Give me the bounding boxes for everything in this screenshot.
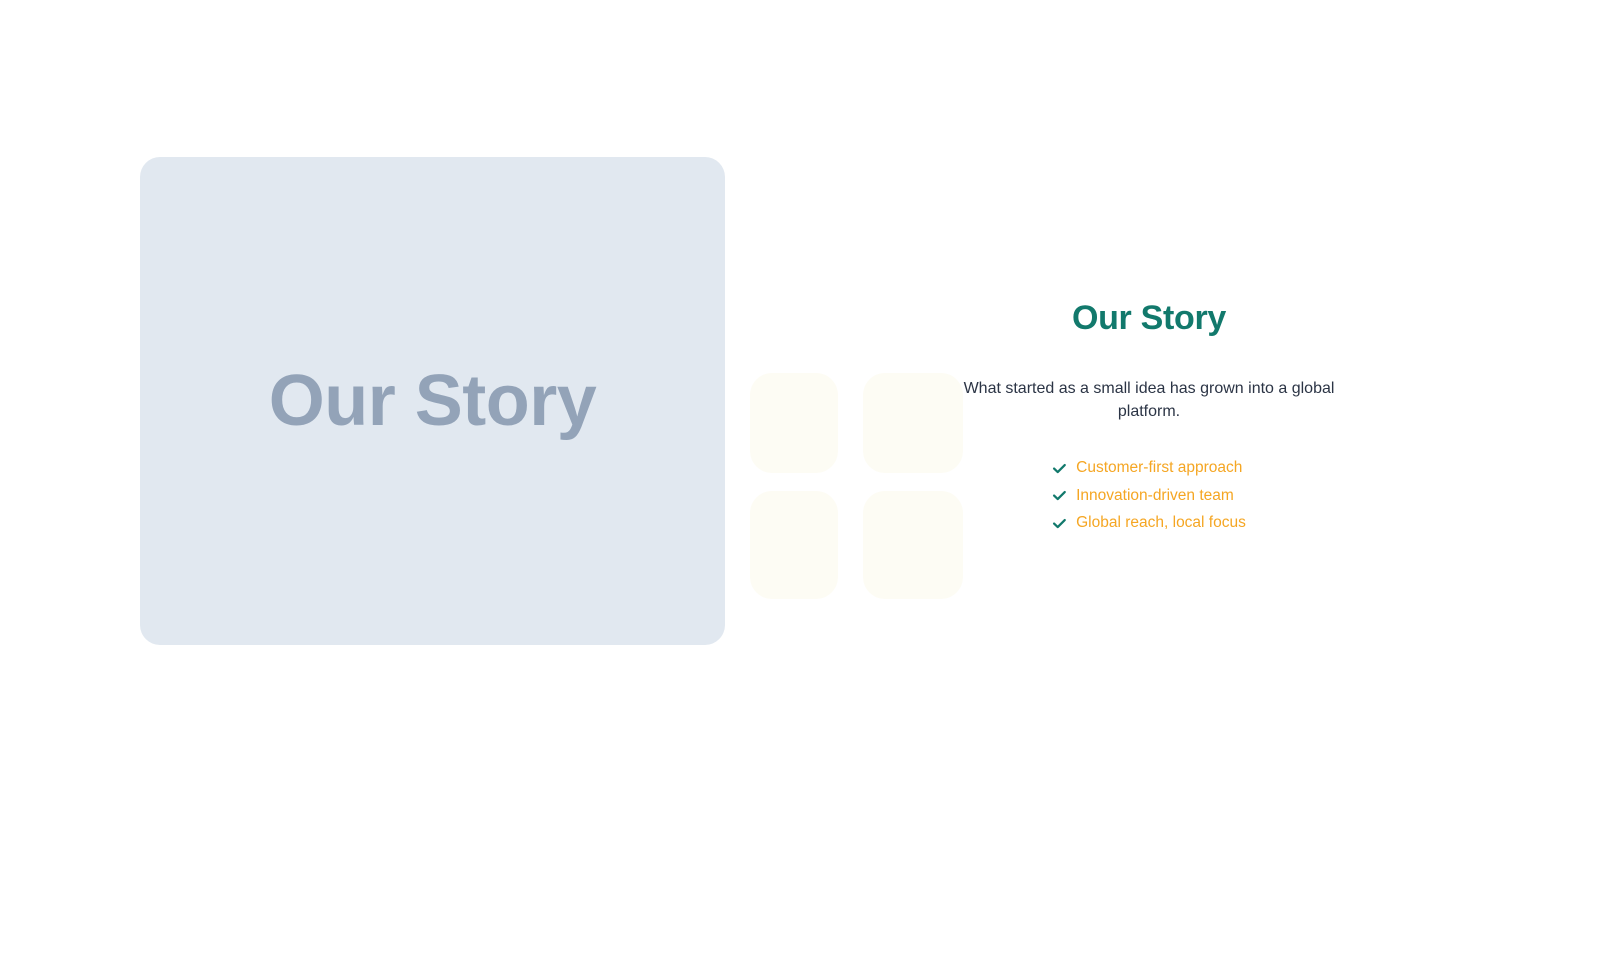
feature-label: Customer-first approach	[1076, 457, 1242, 479]
list-item: Global reach, local focus	[1052, 512, 1246, 534]
list-item: Customer-first approach	[1052, 457, 1246, 479]
list-item: Innovation-driven team	[1052, 485, 1246, 507]
media-placeholder-label: Our Story	[269, 365, 597, 437]
media-placeholder-card: Our Story	[140, 157, 725, 645]
page-title: Our Story	[934, 298, 1364, 339]
feature-label: Global reach, local focus	[1076, 512, 1246, 534]
page-root: Our Story Our Story What started as a sm…	[0, 0, 1600, 978]
check-icon	[1052, 516, 1067, 531]
check-icon	[1052, 488, 1067, 503]
deco-square	[750, 373, 838, 473]
deco-square	[750, 491, 838, 599]
feature-list: Customer-first approach Innovation-drive…	[1052, 457, 1246, 534]
feature-label: Innovation-driven team	[1076, 485, 1234, 507]
story-description: What started as a small idea has grown i…	[934, 377, 1364, 423]
check-icon	[1052, 461, 1067, 476]
story-content-block: Our Story What started as a small idea h…	[934, 298, 1364, 536]
